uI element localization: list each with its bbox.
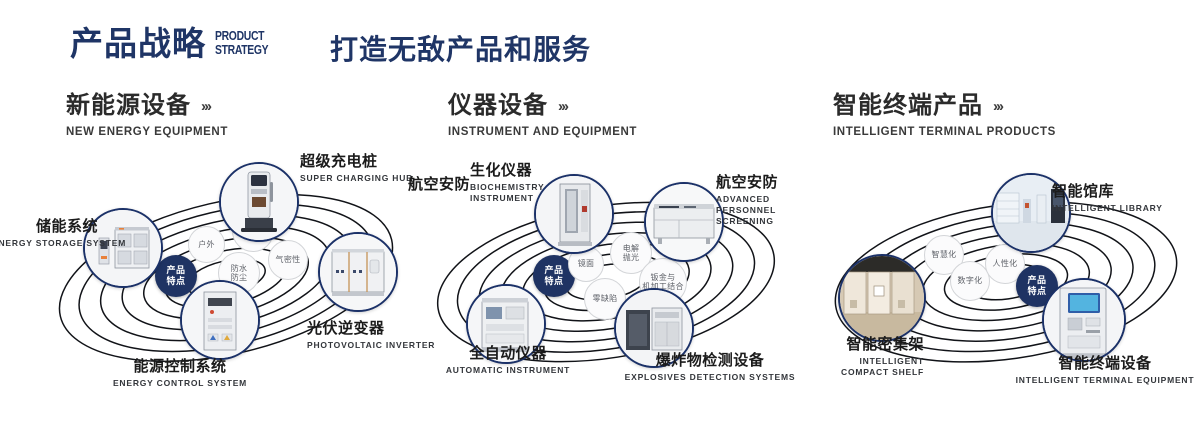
section-heading-new-energy: 新能源设备 ››› NEW ENERGY EQUIPMENT: [66, 92, 228, 138]
section-heading-en: NEW ENERGY EQUIPMENT: [66, 126, 228, 138]
label-cn: 生化仪器: [470, 162, 558, 180]
poster-canvas: 产品战略 PRODUCT STRATEGY 打造无敌产品和服务 新能源设备 ››…: [0, 0, 1200, 422]
node-bubble-charging-hub[interactable]: [219, 162, 299, 242]
section-heading-en: INSTRUMENT AND EQUIPMENT: [448, 126, 637, 138]
inverter-cabinet-icon: [320, 234, 396, 310]
page-title-en-line2: STRATEGY: [215, 43, 268, 57]
label-personnel-screening: 航空安防 ADVANCED PERSONNEL SCREENING: [716, 174, 820, 227]
feature-bubble-text: 零缺陷: [593, 294, 618, 304]
section-heading-cn: 智能终端产品 ›››: [833, 92, 1056, 120]
label-en: INTELLIGENT LIBRARY: [1052, 203, 1163, 214]
self-service-kiosk-icon: [1044, 280, 1124, 360]
section-heading-label: 智能终端产品: [833, 92, 983, 120]
page-title-en: PRODUCT STRATEGY: [215, 29, 268, 57]
feature-bubble-text: 防水防尘: [231, 264, 248, 283]
section-heading-en: INTELLIGENT TERMINAL PRODUCTS: [833, 126, 1056, 138]
section-heading-intelligent-terminal: 智能终端产品 ››› INTELLIGENT TERMINAL PRODUCTS: [833, 92, 1056, 138]
node-bubble-terminal-equipment[interactable]: [1042, 278, 1126, 362]
feature-bubble-text: 户外: [198, 240, 215, 250]
page-title-en-line1: PRODUCT: [215, 29, 268, 43]
node-bubble-energy-control[interactable]: [180, 280, 260, 360]
label-intelligent-library: 智能馆库 INTELLIGENT LIBRARY: [1052, 183, 1163, 214]
section-heading-instrument: 仪器设备 ››› INSTRUMENT AND EQUIPMENT: [448, 92, 637, 138]
node-bubble-compact-shelf[interactable]: [838, 254, 926, 342]
label-cn: 航空安防: [390, 176, 470, 194]
compact-shelf-icon: [840, 256, 924, 340]
section-heading-cn: 新能源设备 ›››: [66, 92, 228, 120]
section-heading-label: 新能源设备: [66, 92, 191, 120]
node-bubble-photovoltaic-inverter[interactable]: [318, 232, 398, 312]
feature-bubble-text: 人性化: [993, 259, 1018, 269]
page-subtitle: 打造无敌产品和服务: [330, 30, 591, 70]
feature-bubble-digital: 数字化: [950, 261, 990, 301]
label-en: INTELLIGENT COMPACT SHELF: [812, 356, 924, 378]
label-energy-control-system: 能源控制系统 ENERGY CONTROL SYSTEM: [80, 358, 280, 389]
core-feature-text: 产品特点: [544, 265, 563, 287]
label-photovoltaic-inverter: 光伏逆变器 PHOTOVOLTAIC INVERTER: [307, 320, 435, 351]
label-cn: 能源控制系统: [80, 358, 280, 376]
label-cn: 智能密集架: [812, 336, 924, 354]
screening-machine-icon: [646, 184, 722, 260]
charging-pile-icon: [221, 164, 297, 240]
chevron-right-icon: ›››: [993, 99, 1002, 114]
label-cn: 超级充电桩: [300, 153, 413, 171]
label-aviation-security-left: 航空安防: [390, 176, 470, 194]
label-cn: 储能系统: [0, 218, 98, 236]
label-explosives-detection: 爆炸物检测设备 EXPLOSIVES DETECTION SYSTEMS: [615, 352, 805, 383]
label-en: ENERGY CONTROL SYSTEM: [80, 378, 280, 389]
feature-bubble-text: 数字化: [958, 276, 983, 286]
feature-bubble-outdoor: 户外: [188, 226, 225, 263]
feature-bubble-text: 镜面: [578, 259, 595, 269]
chevron-right-icon: ›››: [558, 99, 567, 114]
label-terminal-equipment: 智能终端设备 INTELLIGENT TERMINAL EQUIPMENT: [1010, 355, 1200, 386]
label-en: BIOCHEMISTRY INSTRUMENT: [470, 182, 558, 204]
label-cn: 全自动仪器: [428, 345, 588, 363]
label-cn: 爆炸物检测设备: [615, 352, 805, 370]
feature-bubble-text: 气密性: [276, 255, 301, 265]
label-automatic-instrument: 全自动仪器 AUTOMATIC INSTRUMENT: [428, 345, 588, 376]
label-en: ADVANCED PERSONNEL SCREENING: [716, 194, 820, 227]
feature-bubble-text: 智慧化: [932, 250, 957, 260]
label-energy-storage: 储能系统 ENERGY STORAGE SYSTEM: [0, 218, 98, 249]
label-cn: 智能馆库: [1052, 183, 1163, 201]
chevron-right-icon: ›››: [201, 99, 210, 114]
label-en: EXPLOSIVES DETECTION SYSTEMS: [615, 372, 805, 383]
section-heading-label: 仪器设备: [448, 92, 548, 120]
node-bubble-personnel-screening[interactable]: [644, 182, 724, 262]
label-en: PHOTOVOLTAIC INVERTER: [307, 340, 435, 351]
label-cn: 航空安防: [716, 174, 820, 192]
label-en: ENERGY STORAGE SYSTEM: [0, 238, 98, 249]
label-compact-shelf: 智能密集架 INTELLIGENT COMPACT SHELF: [812, 336, 924, 378]
section-heading-cn: 仪器设备 ›››: [448, 92, 637, 120]
page-title-cn: 产品战略: [70, 24, 206, 64]
label-cn: 光伏逆变器: [307, 320, 435, 338]
control-cabinet-icon: [182, 282, 258, 358]
label-en: INTELLIGENT TERMINAL EQUIPMENT: [1010, 375, 1200, 386]
label-cn: 智能终端设备: [1010, 355, 1200, 373]
label-biochemistry-instrument: 生化仪器 BIOCHEMISTRY INSTRUMENT: [470, 162, 558, 204]
feature-bubble-text: 电解抛光: [623, 244, 640, 263]
page-title: 产品战略 PRODUCT STRATEGY: [70, 24, 282, 64]
feature-bubble-airtight: 气密性: [268, 240, 308, 280]
label-en: AUTOMATIC INSTRUMENT: [428, 365, 588, 376]
